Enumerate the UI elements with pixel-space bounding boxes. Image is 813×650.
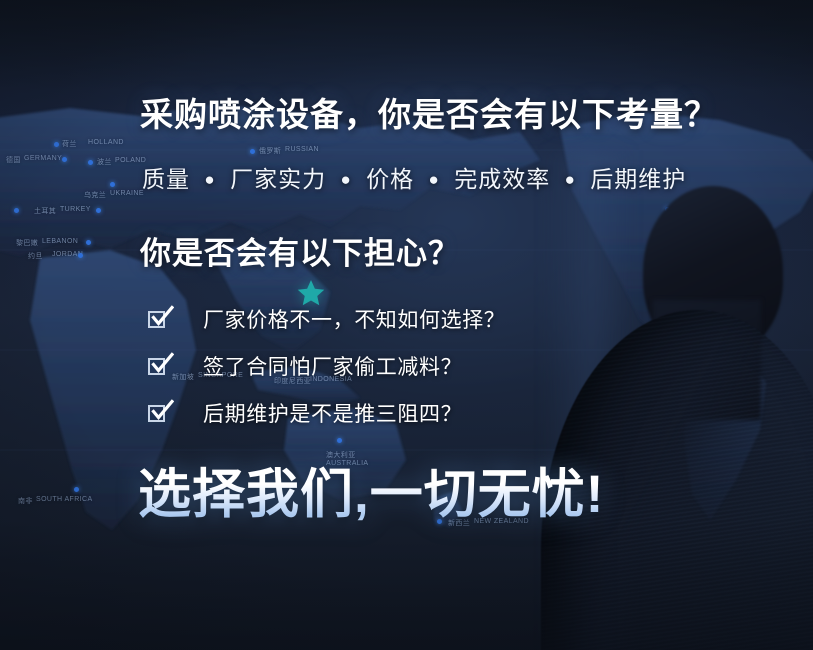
promo-banner: 荷兰 HOLLAND 德国 GERMANY 波兰 POLAND 乌克兰 UKRA… — [0, 0, 813, 650]
bullet-separator-icon: ● — [565, 170, 576, 190]
feature-item-price: 价格 — [366, 166, 414, 192]
list-item-label: 签了合同怕厂家偷工减料？ — [203, 351, 462, 381]
list-item-label: 后期维护是不是推三阻四？ — [203, 398, 462, 428]
tagline-headline: 选择我们,一切无忧! — [138, 452, 604, 528]
list-item: 签了合同怕厂家偷工减料？ — [148, 347, 505, 385]
checkbox-checked-icon — [148, 356, 169, 377]
concerns-checklist: 厂家价格不一，不知如何选择？ 签了合同怕厂家偷工减料？ — [148, 300, 505, 441]
feature-item-efficiency: 完成效率 — [454, 166, 550, 192]
feature-list: 质量 ● 厂家实力 ● 价格 ● 完成效率 ● 后期维护 — [142, 160, 686, 194]
bullet-separator-icon: ● — [429, 170, 440, 190]
bullet-separator-icon: ● — [340, 170, 351, 190]
feature-item-quality: 质量 — [142, 166, 190, 192]
list-item: 后期维护是不是推三阻四？ — [148, 394, 505, 432]
feature-item-maintenance: 后期维护 — [590, 166, 686, 192]
secondary-headline: 你是否会有以下担心？ — [140, 228, 460, 273]
list-item-label: 厂家价格不一，不知如何选择？ — [203, 304, 505, 334]
list-item: 厂家价格不一，不知如何选择？ — [148, 300, 505, 338]
checkbox-checked-icon — [148, 309, 169, 330]
checkbox-checked-icon — [148, 403, 169, 424]
feature-item-manufacturer-strength: 厂家实力 — [230, 166, 326, 192]
bullet-separator-icon: ● — [204, 170, 215, 190]
primary-headline: 采购喷涂设备，你是否会有以下考量？ — [140, 88, 718, 136]
banner-content: 采购喷涂设备，你是否会有以下考量？ 质量 ● 厂家实力 ● 价格 ● 完成效率 … — [0, 0, 813, 650]
